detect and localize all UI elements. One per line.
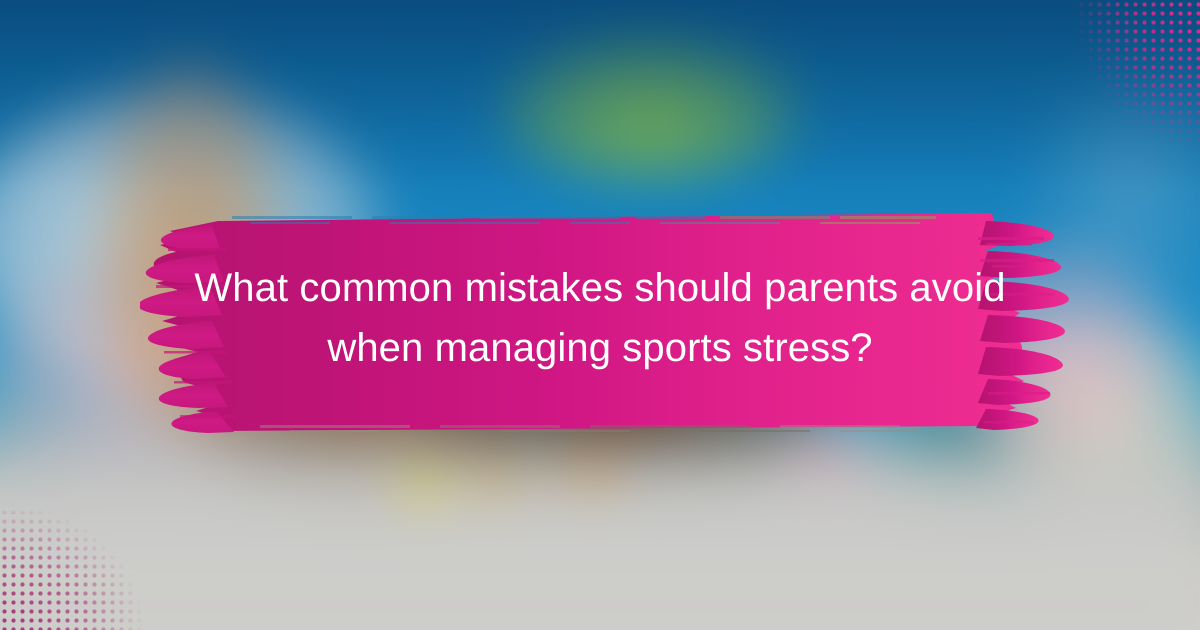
- background-blob: [495, 30, 805, 180]
- question-card: What common mistakes should parents avoi…: [0, 0, 1200, 630]
- background-blob: [560, 450, 620, 500]
- background-blob: [395, 460, 455, 510]
- background-blob: [470, 460, 525, 505]
- page-title: What common mistakes should parents avoi…: [150, 258, 1050, 378]
